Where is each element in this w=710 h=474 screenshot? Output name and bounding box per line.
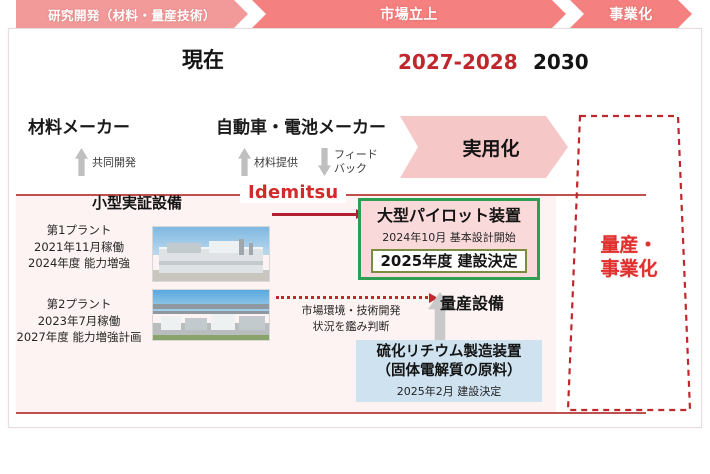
- photo-building: [159, 261, 263, 265]
- pilot-decision-badge: 2025年度 建設決定: [371, 249, 528, 273]
- plant-2-info: 第2プラント 2023年7月稼働 2027年度 能力増強計画: [12, 296, 146, 346]
- sulfide-subtitle: 2025年2月 建設決定: [397, 383, 502, 399]
- practical-use-label: 実用化: [448, 134, 519, 161]
- sulfide-title-line-1: 硫化リチウム製造装置: [377, 343, 522, 361]
- photo-pipe-rack: [153, 304, 270, 309]
- commercialization-line-1: 量産・: [566, 234, 692, 258]
- photo-pipe: [239, 239, 244, 255]
- judgement-line-2: 状況を鑑み判断: [276, 319, 426, 335]
- photo-building: [167, 243, 201, 253]
- plant-1-name: 第1プラント: [18, 222, 140, 239]
- pilot-subtitle: 2024年10月 基本設計開始: [382, 229, 516, 245]
- band-divider-bottom: [16, 412, 646, 414]
- label-joint-development: 共同開発: [92, 156, 136, 170]
- timeline-label-2030: 2030: [533, 52, 589, 72]
- judgement-note: 市場環境・技術開発 状況を鑑み判断: [276, 303, 426, 335]
- pilot-title: 大型パイロット装置: [377, 207, 521, 225]
- stakeholder-material-maker: 材料メーカー: [28, 120, 130, 137]
- mass-production-equipment-label: 量産設備: [440, 290, 504, 314]
- label-material-supply: 材料提供: [254, 156, 298, 170]
- phase-banner-research-development: 研究開発（材料・量産技術）: [16, 0, 248, 28]
- company-logo-text: Idemitsu: [240, 183, 346, 203]
- commercialization-label: 量産・ 事業化: [566, 234, 692, 282]
- stakeholder-auto-battery-maker: 自動車・電池メーカー: [216, 120, 386, 137]
- photo-building: [211, 314, 235, 330]
- large-pilot-equipment-box: 大型パイロット装置 2024年10月 基本設計開始 2025年度 建設決定: [358, 198, 540, 280]
- plant-1-line3: 2024年度 能力増強: [18, 255, 140, 272]
- photo-building: [161, 316, 181, 330]
- plant-1-info: 第1プラント 2021年11月稼働 2024年度 能力増強: [18, 222, 140, 272]
- section-title-small-demo-facility: 小型実証設備: [92, 192, 182, 213]
- commercialization-line-2: 事業化: [566, 258, 692, 282]
- photo-building: [239, 316, 265, 330]
- practical-use-chevron: 実用化: [400, 116, 568, 178]
- lithium-sulfide-equipment-box: 硫化リチウム製造装置 （固体電解質の原料） 2025年2月 建設決定: [356, 340, 542, 402]
- photo-sky: [153, 290, 269, 313]
- photo-building: [209, 241, 239, 253]
- timeline-label-now: 現在: [182, 50, 224, 71]
- timeline-label-2027: 2027-2028: [398, 52, 518, 72]
- roadmap-diagram: 現在 2027-2028 2030 研究開発（材料・量産技術） 市場立上 事業化…: [0, 0, 710, 474]
- phase-banner-commercialization: 事業化: [570, 0, 692, 28]
- phase-banner-market-launch: 市場立上: [252, 0, 566, 28]
- judgement-line-1: 市場環境・技術開発: [276, 303, 426, 319]
- photo-pipe: [249, 243, 253, 255]
- photo-building: [185, 318, 207, 330]
- commercialization-zone: 量産・ 事業化: [566, 114, 692, 412]
- label-feedback: フィードバック: [334, 148, 380, 176]
- plant-1-line2: 2021年11月稼働: [18, 239, 140, 256]
- photo-vegetation: [153, 335, 270, 340]
- dotted-arrow-right-icon: [276, 296, 428, 299]
- sulfide-title-line-2: （固体電解質の原料）: [377, 362, 522, 380]
- plant-1-photo: [152, 226, 270, 282]
- plant-2-photo: [152, 289, 270, 341]
- plant-2-line2: 2023年7月稼働: [12, 313, 146, 330]
- plant-2-line3: 2027年度 能力増強計画: [12, 329, 146, 346]
- arrow-right-icon: [272, 213, 356, 216]
- plant-2-name: 第2プラント: [12, 296, 146, 313]
